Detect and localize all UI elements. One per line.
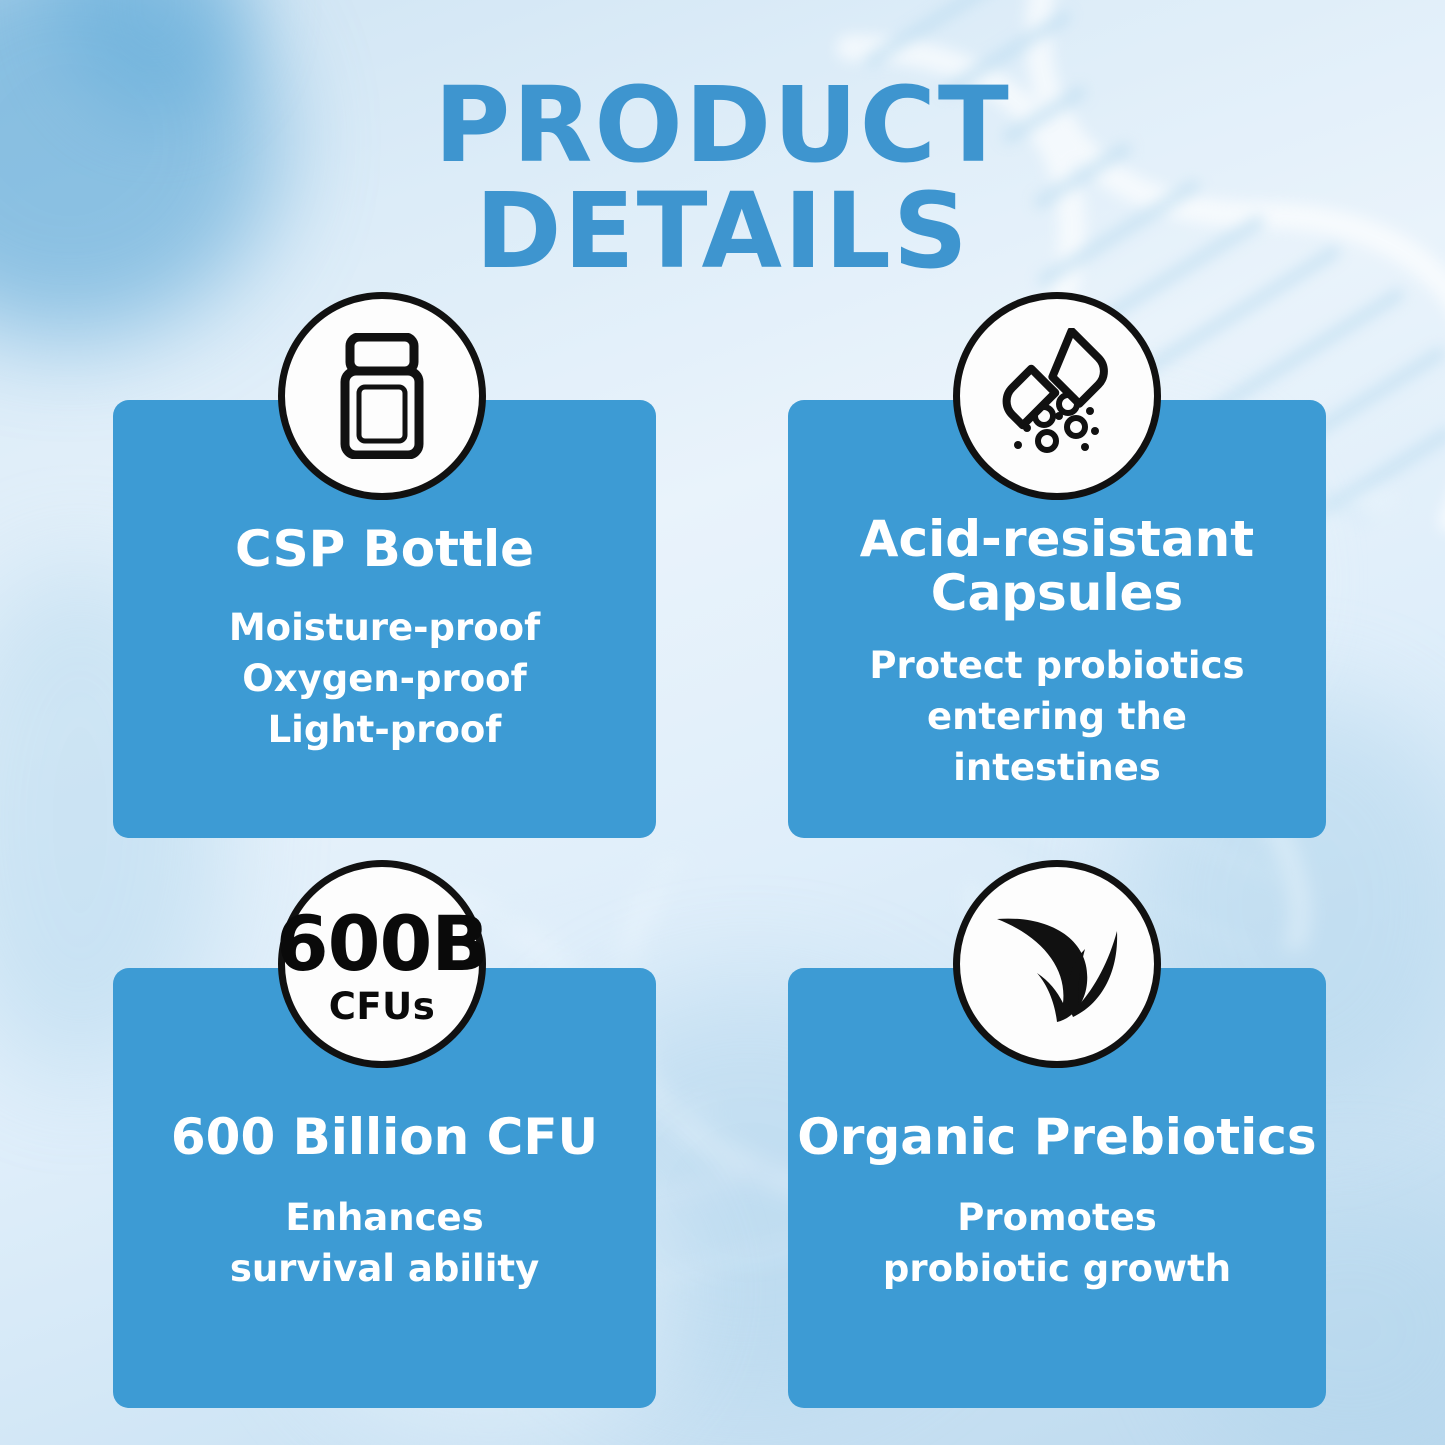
card-heading: Acid-resistant Capsules: [788, 512, 1326, 620]
card-body: Moisture-proof Oxygen-proof Light-proof: [113, 602, 656, 755]
leaf-icon: [987, 901, 1127, 1027]
page-title-line-2: DETAILS: [0, 178, 1445, 284]
card-body: Enhances survival ability: [113, 1192, 656, 1294]
card-body: Promotes probiotic growth: [788, 1192, 1326, 1294]
cfu-count-badge: 600B CFUs: [278, 860, 486, 1068]
product-details-infographic: PRODUCT DETAILS CSP Bottle Moisture-proo…: [0, 0, 1445, 1445]
cfu-badge-label: CFUs: [329, 988, 436, 1025]
cfu-badge-number: 600B: [276, 909, 489, 979]
leaf-icon-badge: [953, 860, 1161, 1068]
capsule-icon: [989, 328, 1125, 464]
card-heading: CSP Bottle: [113, 522, 656, 576]
page-title: PRODUCT DETAILS: [0, 72, 1445, 284]
card-body: Protect probiotics entering the intestin…: [788, 640, 1326, 793]
capsule-icon-badge: [953, 292, 1161, 500]
bottle-icon-badge: [278, 292, 486, 500]
bottle-icon: [328, 333, 436, 459]
card-heading: Organic Prebiotics: [788, 1110, 1326, 1164]
card-heading: 600 Billion CFU: [113, 1110, 656, 1164]
page-title-line-1: PRODUCT: [434, 64, 1011, 186]
